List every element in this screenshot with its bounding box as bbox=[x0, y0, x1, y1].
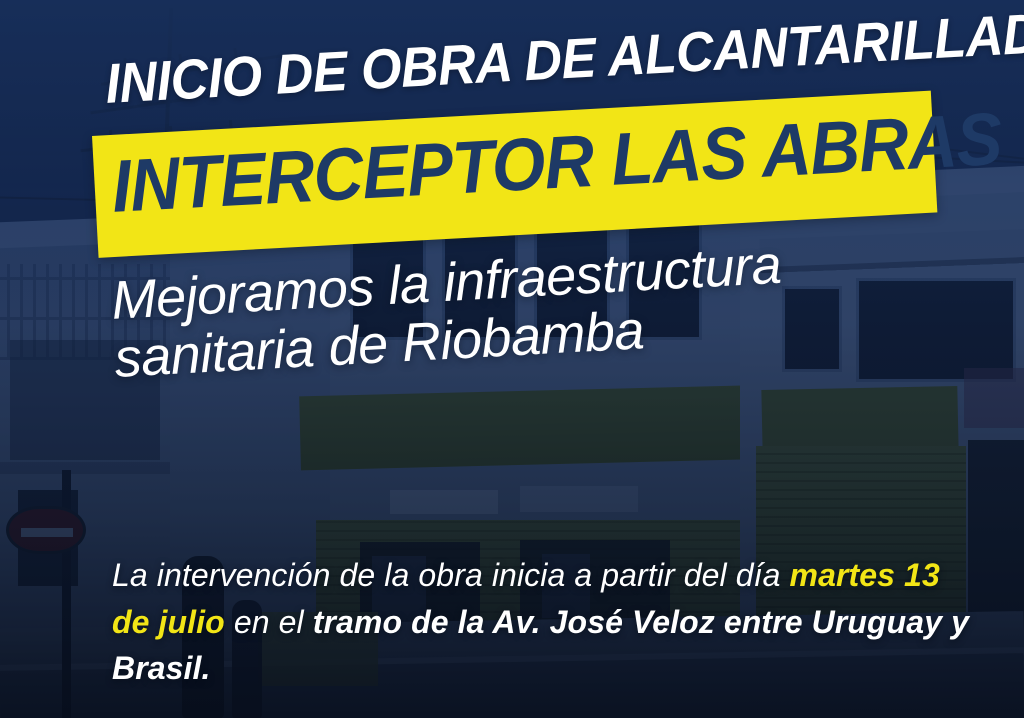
body-copy: La intervención de la obra inicia a part… bbox=[112, 552, 972, 692]
poster-canvas: INICIO DE OBRA DE ALCANTARILLADO INTERCE… bbox=[0, 0, 1024, 718]
subtitle: Mejoramos la infraestructura sanitaria d… bbox=[110, 236, 786, 389]
body-part-1: La intervención de la obra inicia a part… bbox=[112, 557, 781, 593]
text-layer: INICIO DE OBRA DE ALCANTARILLADO INTERCE… bbox=[0, 0, 1024, 718]
body-part-2: en el bbox=[234, 604, 304, 640]
